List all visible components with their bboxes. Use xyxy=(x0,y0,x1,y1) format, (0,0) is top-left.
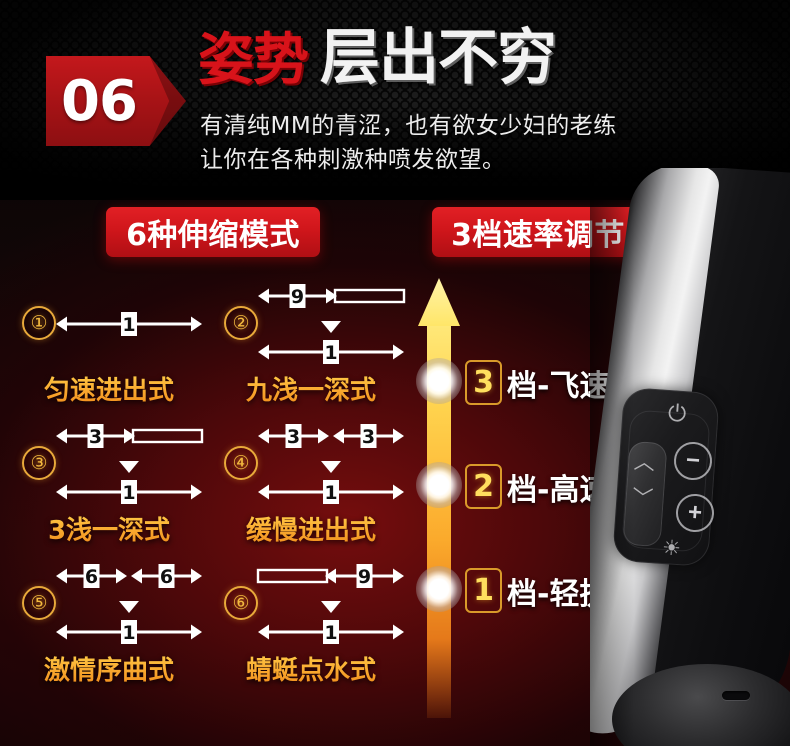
brightness-icon[interactable]: ☀ xyxy=(661,535,682,561)
mode-index: ③ xyxy=(22,446,56,480)
speed-marker-dot xyxy=(416,566,462,612)
svg-text:3: 3 xyxy=(362,426,375,448)
mode-item: ⑤ 661 激情序曲式 xyxy=(8,558,210,698)
modes-section-header: 6种伸缩模式 xyxy=(106,207,320,257)
chevron-double-down-icon[interactable]: ﹀ xyxy=(632,493,652,503)
product-base-slot xyxy=(722,691,750,700)
svg-text:1: 1 xyxy=(122,314,135,336)
mode-label: 匀速进出式 xyxy=(8,370,210,407)
mode-diagram: 31 xyxy=(52,422,206,508)
svg-text:1: 1 xyxy=(324,342,337,364)
svg-text:1: 1 xyxy=(122,482,135,504)
modes-grid: ① 1 匀速进出式 ② 91 九浅一深式 ③ 31 3浅一深式 ④ 331 缓慢… xyxy=(8,278,412,698)
mode-item: ④ 331 缓慢进出式 xyxy=(210,418,412,558)
mode-diagram: 91 xyxy=(254,562,408,648)
svg-text:6: 6 xyxy=(85,566,98,588)
mode-label: 3浅一深式 xyxy=(8,510,210,547)
svg-text:6: 6 xyxy=(160,566,173,588)
svg-text:3: 3 xyxy=(287,426,300,448)
modes-row: ⑤ 661 激情序曲式 ⑥ 91 蜻蜓点水式 xyxy=(8,558,412,698)
mode-diagram: 661 xyxy=(52,562,206,648)
mode-label: 激情序曲式 xyxy=(8,650,210,687)
svg-text:9: 9 xyxy=(291,286,304,308)
mode-item: ② 91 九浅一深式 xyxy=(210,278,412,418)
promo-page: 06 姿势 层出不穷 有清纯MM的青涩，也有欲女少妇的老练 让你在各种刺激种喷发… xyxy=(0,0,790,746)
speed-level-box: 1 xyxy=(465,568,502,613)
chevron-up-icon[interactable]: ︿ xyxy=(633,445,654,476)
speed-level-box: 2 xyxy=(465,464,502,509)
power-icon[interactable]: ⏻ xyxy=(667,399,687,427)
mode-item: ① 1 匀速进出式 xyxy=(8,278,210,418)
mode-index: ⑤ xyxy=(22,586,56,620)
modes-row: ③ 31 3浅一深式 ④ 331 缓慢进出式 xyxy=(8,418,412,558)
svg-text:3: 3 xyxy=(89,426,102,448)
svg-text:1: 1 xyxy=(122,622,135,644)
mode-index: ① xyxy=(22,306,56,340)
headline-red: 姿势 xyxy=(198,34,308,87)
mode-label: 缓慢进出式 xyxy=(210,510,412,547)
svg-text:1: 1 xyxy=(324,622,337,644)
svg-text:9: 9 xyxy=(358,566,371,588)
speed-marker-dot xyxy=(416,462,462,508)
mode-label: 蜻蜓点水式 xyxy=(210,650,412,687)
mode-item: ⑥ 91 蜻蜓点水式 xyxy=(210,558,412,698)
mode-label: 九浅一深式 xyxy=(210,370,412,407)
headline-white: 层出不穷 xyxy=(320,30,556,87)
mode-diagram: 331 xyxy=(254,422,408,508)
subtitle-line-2: 让你在各种刺激种喷发欲望。 xyxy=(200,140,506,174)
subtitle-line-1: 有清纯MM的青涩，也有欲女少妇的老练 xyxy=(200,106,617,140)
mode-item: ③ 31 3浅一深式 xyxy=(8,418,210,558)
headline: 姿势 层出不穷 xyxy=(198,30,556,87)
mode-index: ② xyxy=(224,306,258,340)
mode-diagram: 91 xyxy=(254,282,408,368)
mode-index: ⑥ xyxy=(224,586,258,620)
speed-level-box: 3 xyxy=(465,360,502,405)
svg-text:1: 1 xyxy=(324,482,337,504)
product-photo: ⏻ ︿ ﹀ − + ☀ xyxy=(590,168,790,746)
speed-arrow-head xyxy=(418,278,460,326)
modes-row: ① 1 匀速进出式 ② 91 九浅一深式 xyxy=(8,278,412,418)
speed-marker-dot xyxy=(416,358,462,404)
step-number: 06 xyxy=(46,56,152,146)
mode-index: ④ xyxy=(224,446,258,480)
